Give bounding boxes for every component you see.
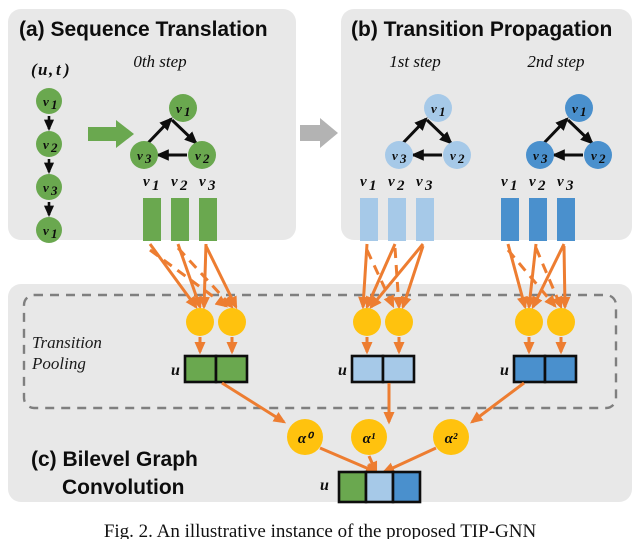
alpha-label-2: α² <box>445 431 458 447</box>
svg-text:u: u <box>38 60 47 79</box>
panel-c-title-line1: (c) Bilevel Graph <box>31 448 198 471</box>
graph-a-node-v1 <box>169 94 197 122</box>
svg-text:2: 2 <box>202 151 210 166</box>
final-cell-0 <box>339 472 366 502</box>
svg-text:1: 1 <box>510 178 518 194</box>
pooling-node-1a <box>353 308 381 336</box>
alpha-label-1: α¹ <box>363 431 376 447</box>
seq-node-3 <box>36 174 62 200</box>
svg-text:2: 2 <box>537 178 546 194</box>
panel-b1-bar-v3 <box>557 198 575 241</box>
pooling-label-line2: Pooling <box>31 354 86 373</box>
panel-b-title: (b) Transition Propagation <box>351 18 612 41</box>
pooling-node-0a <box>186 308 214 336</box>
svg-text:v: v <box>43 94 49 109</box>
panel-b0-bar-v2 <box>388 198 406 241</box>
seq-node-1 <box>36 88 62 114</box>
svg-text:v: v <box>143 174 150 190</box>
svg-text:1: 1 <box>152 178 160 194</box>
svg-text:2: 2 <box>396 178 405 194</box>
panel-transition-arrow-icon <box>300 118 338 148</box>
svg-text:1: 1 <box>369 178 377 194</box>
panel-a-step-label: 0th step <box>133 52 186 71</box>
pooling-node-0b <box>218 308 246 336</box>
svg-text:1: 1 <box>184 104 191 119</box>
svg-text:3: 3 <box>565 178 574 194</box>
svg-text:2: 2 <box>598 151 606 166</box>
panel-a-title: (a) Sequence Translation <box>19 18 268 41</box>
svg-text:v: v <box>416 174 423 190</box>
svg-text:v: v <box>171 174 178 190</box>
panel-c-title-line2: Convolution <box>62 476 184 499</box>
svg-text:v: v <box>43 180 49 195</box>
seq-node-4 <box>36 217 62 243</box>
pooling-node-2a <box>515 308 543 336</box>
panel-b0-bar-v1 <box>360 198 378 241</box>
panel-b-group-0-step-label: 1st step <box>389 52 440 71</box>
panel-b-group-1-step-label: 2nd step <box>527 52 584 71</box>
graph-b0-node-v3 <box>385 141 413 169</box>
pooling-u-label-2: u <box>500 362 509 379</box>
svg-text:v: v <box>137 148 143 163</box>
seq-node-2 <box>36 131 62 157</box>
graph-b1-node-v2 <box>584 141 612 169</box>
svg-text:v: v <box>450 148 456 163</box>
svg-text:v: v <box>392 148 398 163</box>
panel-a: (a) Sequence Translation 0th step ( u , … <box>8 9 296 243</box>
graph-a-node-v2 <box>188 141 216 169</box>
graph-b1-node-v3 <box>526 141 554 169</box>
panel-a-bar-v3 <box>199 198 217 241</box>
svg-text:,: , <box>48 60 53 79</box>
svg-text:2: 2 <box>457 151 465 166</box>
pooling-u-label-1: u <box>338 362 347 379</box>
svg-text:1: 1 <box>51 226 58 241</box>
svg-text:1: 1 <box>580 104 587 119</box>
graph-b0-node-v2 <box>443 141 471 169</box>
pooling-u-cell-2a <box>514 356 545 382</box>
pooling-node-2b <box>547 308 575 336</box>
final-u-label: u <box>320 477 329 494</box>
figure-root: (a) Sequence Translation 0th step ( u , … <box>0 0 640 539</box>
pooling-label-line1: Transition <box>32 333 102 352</box>
svg-text:v: v <box>431 101 437 116</box>
svg-text:v: v <box>360 174 367 190</box>
svg-text:3: 3 <box>540 151 548 166</box>
pooling-u-label-0: u <box>171 362 180 379</box>
alpha-nodes: α⁰ α¹ α² <box>287 419 469 455</box>
panel-a-bar-v1 <box>143 198 161 241</box>
figure-caption: Fig. 2. An illustrative instance of the … <box>104 521 537 539</box>
svg-text:v: v <box>533 148 539 163</box>
svg-text:v: v <box>199 174 206 190</box>
pooling-u-cell-2b <box>545 356 576 382</box>
panel-b: (b) Transition Propagation 1st step 2nd … <box>341 9 632 241</box>
svg-text:3: 3 <box>144 151 152 166</box>
svg-text:v: v <box>176 101 182 116</box>
svg-text:3: 3 <box>424 178 433 194</box>
graph-b1-node-v1 <box>565 94 593 122</box>
panel-b1-bar-v2 <box>529 198 547 241</box>
panel-a-bar-v2 <box>171 198 189 241</box>
svg-text:1: 1 <box>51 97 58 112</box>
pooling-u-cell-1a <box>352 356 383 382</box>
svg-text:v: v <box>557 174 564 190</box>
svg-text:3: 3 <box>207 178 216 194</box>
svg-text:v: v <box>43 223 49 238</box>
graph-b0-node-v1 <box>424 94 452 122</box>
pooling-u-cell-0b <box>216 356 247 382</box>
svg-text:v: v <box>43 137 49 152</box>
graph-a-node-v3 <box>130 141 158 169</box>
svg-text:v: v <box>572 101 578 116</box>
figure-canvas: (a) Sequence Translation 0th step ( u , … <box>0 0 640 539</box>
svg-text:2: 2 <box>179 178 188 194</box>
svg-text:1: 1 <box>439 104 446 119</box>
pooling-node-1b <box>385 308 413 336</box>
svg-text:v: v <box>501 174 508 190</box>
pooling-u-cell-0a <box>185 356 216 382</box>
panel-b1-bar-v1 <box>501 198 519 241</box>
panel-b0-bar-v3 <box>416 198 434 241</box>
svg-text:): ) <box>62 60 70 79</box>
svg-text:2: 2 <box>50 140 58 155</box>
final-cell-1 <box>366 472 393 502</box>
svg-text:v: v <box>529 174 536 190</box>
svg-text:v: v <box>591 148 597 163</box>
pooling-u-cell-1b <box>383 356 414 382</box>
svg-text:v: v <box>195 148 201 163</box>
final-cell-2 <box>393 472 420 502</box>
panel-b-background <box>341 9 632 240</box>
svg-text:3: 3 <box>50 183 58 198</box>
svg-text:3: 3 <box>399 151 407 166</box>
svg-text:v: v <box>388 174 395 190</box>
